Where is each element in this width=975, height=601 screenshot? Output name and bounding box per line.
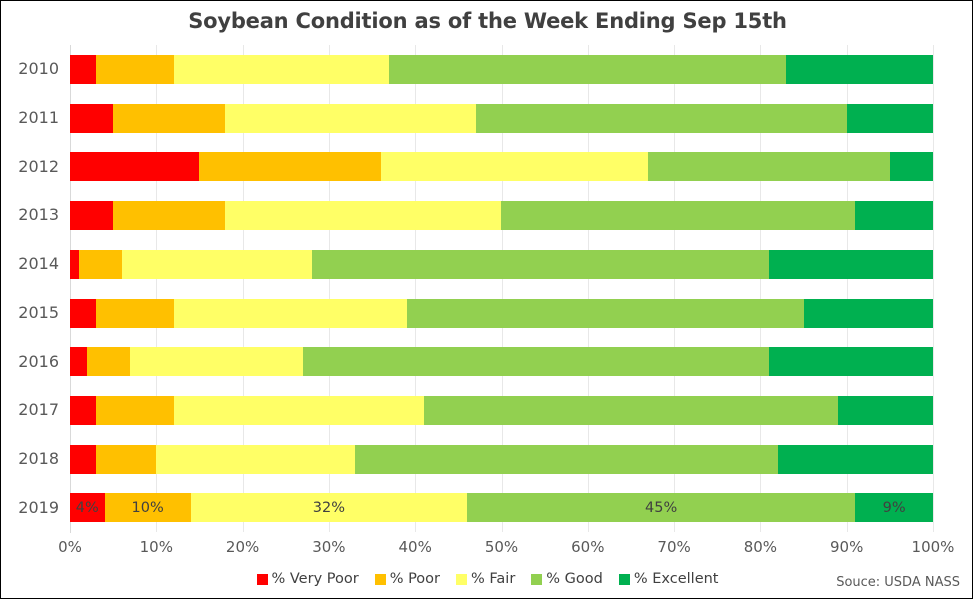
legend-item[interactable]: % Very Poor (257, 571, 359, 587)
x-axis-tick-label: 0% (40, 538, 100, 556)
stacked-bar[interactable] (70, 347, 933, 376)
chart-container: Soybean Condition as of the Week Ending … (0, 0, 973, 599)
bar-segment[interactable] (389, 55, 786, 84)
bar-row (70, 191, 933, 240)
source-note: Souce: USDA NASS (836, 575, 960, 590)
stacked-bar[interactable] (70, 299, 933, 328)
bar-segment[interactable] (769, 250, 933, 279)
bar-row (70, 142, 933, 191)
bar-segment[interactable] (70, 55, 96, 84)
bar-segment[interactable] (303, 347, 769, 376)
bar-row (70, 289, 933, 338)
bar-segment[interactable] (96, 55, 174, 84)
legend-item-label: % Very Poor (272, 571, 359, 587)
bar-segment[interactable] (199, 152, 380, 181)
stacked-bar[interactable] (70, 201, 933, 230)
square-swatch-icon (257, 574, 268, 585)
bar-segment-label: 9% (883, 500, 906, 516)
x-axis-tick-label: 70% (644, 538, 704, 556)
legend-item[interactable]: % Good (531, 571, 603, 587)
x-axis-tick-label: 30% (299, 538, 359, 556)
y-axis-label-2013: 2013 (1, 205, 59, 224)
bar-segment[interactable] (174, 55, 390, 84)
x-axis-tick-label: 100% (903, 538, 963, 556)
page-title: Soybean Condition as of the Week Ending … (1, 9, 974, 33)
bar-segment[interactable]: 4% (70, 493, 105, 522)
bar-segment[interactable] (648, 152, 890, 181)
x-axis-tick-label: 10% (126, 538, 186, 556)
bar-segment[interactable] (96, 396, 174, 425)
bar-segment[interactable] (312, 250, 769, 279)
y-axis-label-2011: 2011 (1, 108, 59, 127)
bar-segment[interactable] (70, 250, 79, 279)
bar-segment[interactable] (804, 299, 933, 328)
bar-segment[interactable] (890, 152, 933, 181)
stacked-bar[interactable] (70, 250, 933, 279)
bar-segment[interactable] (476, 104, 847, 133)
bar-segment[interactable]: 45% (467, 493, 855, 522)
bar-segment-label: 4% (76, 500, 99, 516)
y-axis-label-2015: 2015 (1, 303, 59, 322)
bar-segment[interactable] (225, 201, 501, 230)
bar-segment[interactable] (79, 250, 122, 279)
stacked-bar[interactable]: 4%10%32%45%9% (70, 493, 933, 522)
legend: % Very Poor% Poor% Fair% Good% Excellent (1, 571, 974, 587)
bar-segment[interactable] (113, 201, 225, 230)
square-swatch-icon (531, 574, 542, 585)
bar-segment[interactable] (381, 152, 649, 181)
bar-segment[interactable] (786, 55, 933, 84)
bar-segment[interactable] (847, 104, 933, 133)
x-axis-tick-label: 80% (730, 538, 790, 556)
bar-segment[interactable] (70, 347, 87, 376)
bar-row (70, 435, 933, 484)
x-axis-tick-label: 20% (213, 538, 273, 556)
stacked-bar[interactable] (70, 396, 933, 425)
bar-segment[interactable] (70, 201, 113, 230)
bar-segment[interactable] (70, 104, 113, 133)
bar-row: 4%10%32%45%9% (70, 483, 933, 532)
legend-item[interactable]: % Poor (375, 571, 440, 587)
bar-segment[interactable] (96, 299, 174, 328)
y-axis-label-2012: 2012 (1, 157, 59, 176)
legend-item[interactable]: % Excellent (619, 571, 719, 587)
legend-item-label: % Excellent (634, 571, 719, 587)
stacked-bar[interactable] (70, 445, 933, 474)
bar-segment[interactable] (122, 250, 312, 279)
bar-segment[interactable] (838, 396, 933, 425)
bar-segment[interactable] (355, 445, 778, 474)
legend-item-label: % Good (546, 571, 603, 587)
legend-item-label: % Poor (390, 571, 440, 587)
plot-area: 4%10%32%45%9% (70, 45, 933, 532)
bar-segment[interactable] (87, 347, 130, 376)
bar-segment[interactable] (424, 396, 838, 425)
bar-segment[interactable] (96, 445, 156, 474)
bar-segment[interactable] (855, 201, 933, 230)
stacked-bar[interactable] (70, 152, 933, 181)
y-axis-label-2010: 2010 (1, 59, 59, 78)
square-swatch-icon (619, 574, 630, 585)
bar-segment[interactable] (70, 445, 96, 474)
bar-segment[interactable] (174, 299, 407, 328)
y-axis-label-2014: 2014 (1, 254, 59, 273)
bar-segment-label: 32% (313, 500, 345, 516)
gridline (933, 45, 934, 532)
square-swatch-icon (456, 574, 467, 585)
bar-row (70, 240, 933, 289)
x-axis-tick-label: 40% (385, 538, 445, 556)
bar-row (70, 337, 933, 386)
bar-segment[interactable] (174, 396, 424, 425)
bar-segment[interactable] (70, 152, 199, 181)
bar-row (70, 386, 933, 435)
bar-segment-label: 10% (132, 500, 164, 516)
bar-row (70, 94, 933, 143)
bar-segment[interactable] (70, 299, 96, 328)
x-axis-tick-label: 50% (472, 538, 532, 556)
x-axis-tick-label: 90% (817, 538, 877, 556)
bar-segment[interactable] (225, 104, 475, 133)
x-axis-tick-label: 60% (558, 538, 618, 556)
bar-segment[interactable] (769, 347, 933, 376)
stacked-bar[interactable] (70, 104, 933, 133)
bar-segment-label: 45% (645, 500, 677, 516)
bar-segment[interactable] (113, 104, 225, 133)
bar-segment[interactable] (778, 445, 933, 474)
bar-row (70, 45, 933, 94)
bar-segment[interactable] (501, 201, 855, 230)
bar-segment[interactable] (130, 347, 303, 376)
legend-item-label: % Fair (471, 571, 515, 587)
y-axis-label-2018: 2018 (1, 449, 59, 468)
bar-segment[interactable]: 9% (855, 493, 933, 522)
bar-segment[interactable]: 32% (191, 493, 467, 522)
y-axis-label-2019: 2019 (1, 498, 59, 517)
bar-segment[interactable] (156, 445, 354, 474)
y-axis-label-2016: 2016 (1, 352, 59, 371)
bar-segment[interactable] (407, 299, 804, 328)
bar-segment[interactable]: 10% (105, 493, 191, 522)
y-axis-label-2017: 2017 (1, 400, 59, 419)
stacked-bar[interactable] (70, 55, 933, 84)
legend-item[interactable]: % Fair (456, 571, 515, 587)
square-swatch-icon (375, 574, 386, 585)
bar-segment[interactable] (70, 396, 96, 425)
